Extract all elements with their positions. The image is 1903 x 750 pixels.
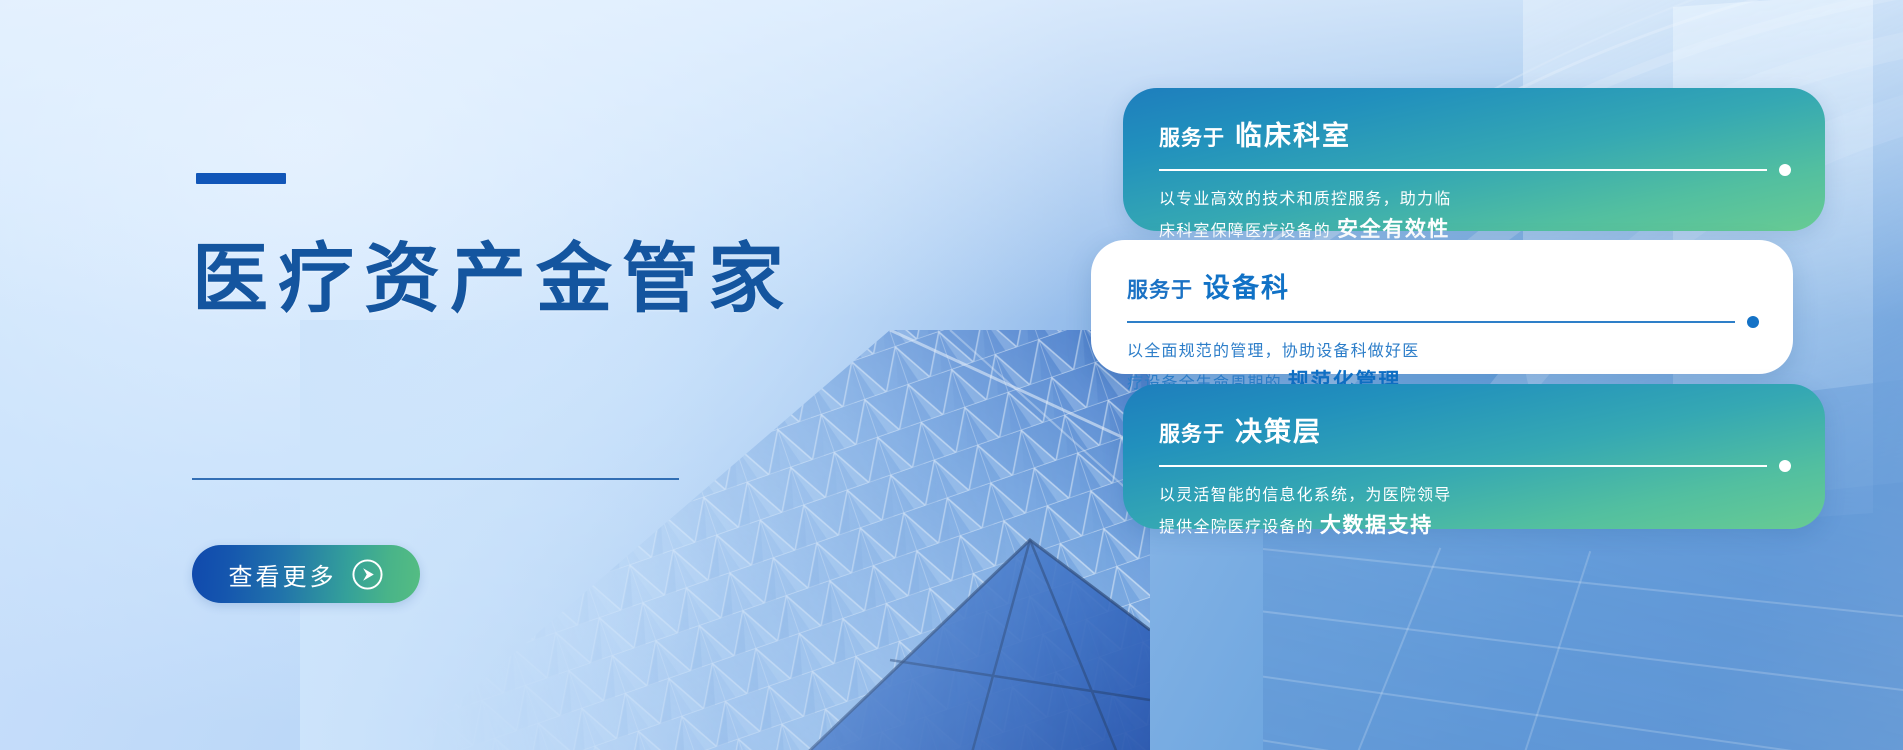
service-card-line2: 提供全院医疗设备的 <box>1159 519 1314 536</box>
service-card-equipment[interactable]: 服务于 设备科 以全面规范的管理，协助设备科做好医 疗设备全生命周期的规范化管理 <box>1091 240 1793 374</box>
circle-arrow-right-icon <box>351 558 384 591</box>
service-card-heading: 服务于 决策层 <box>1159 410 1791 449</box>
service-card-prefix: 服务于 <box>1127 274 1193 304</box>
rule-line <box>1127 321 1735 323</box>
service-card-prefix: 服务于 <box>1159 122 1225 152</box>
service-card-line1: 以全面规范的管理，协助设备科做好医 <box>1127 343 1419 360</box>
service-card-prefix: 服务于 <box>1159 418 1225 448</box>
service-cards: 服务于 临床科室 以专业高效的技术和质控服务，助力临 床科室保障医疗设备的安全有… <box>1123 0 1903 750</box>
service-card-decision[interactable]: 服务于 决策层 以灵活智能的信息化系统，为医院领导 提供全院医疗设备的大数据支持 <box>1123 384 1825 529</box>
service-card-highlight: 安全有效性 <box>1337 218 1450 241</box>
service-card-heading: 服务于 设备科 <box>1127 266 1759 305</box>
rule-line <box>1159 169 1767 171</box>
service-card-line2: 床科室保障医疗设备的 <box>1159 223 1331 240</box>
service-card-subject: 临床科室 <box>1235 114 1351 153</box>
rule-end-dot <box>1779 164 1791 176</box>
service-card-subject: 决策层 <box>1235 410 1322 449</box>
view-more-label: 查看更多 <box>229 557 337 592</box>
service-card-line1: 以灵活智能的信息化系统，为医院领导 <box>1159 487 1451 504</box>
service-card-body: 以灵活智能的信息化系统，为医院领导 提供全院医疗设备的大数据支持 <box>1159 483 1791 543</box>
rule-end-dot <box>1779 460 1791 472</box>
service-card-subject: 设备科 <box>1203 266 1290 305</box>
hero-banner: 医疗资产金管家 查看更多 服务于 临床科室 以专业高效的技术和质控服务，助力临 <box>0 0 1903 750</box>
hero-divider <box>192 478 679 480</box>
service-card-body: 以专业高效的技术和质控服务，助力临 床科室保障医疗设备的安全有效性 <box>1159 187 1791 247</box>
hero-left-content: 医疗资产金管家 查看更多 <box>196 0 816 750</box>
service-card-clinical[interactable]: 服务于 临床科室 以专业高效的技术和质控服务，助力临 床科室保障医疗设备的安全有… <box>1123 88 1825 231</box>
service-card-line1: 以专业高效的技术和质控服务，助力临 <box>1159 191 1451 208</box>
service-card-rule <box>1159 164 1791 176</box>
service-card-rule <box>1127 316 1759 328</box>
rule-end-dot <box>1747 316 1759 328</box>
accent-bar <box>196 173 286 184</box>
service-card-heading: 服务于 临床科室 <box>1159 114 1791 153</box>
page-title: 医疗资产金管家 <box>192 236 794 323</box>
service-card-rule <box>1159 460 1791 472</box>
service-card-highlight: 大数据支持 <box>1320 514 1433 537</box>
rule-line <box>1159 465 1767 467</box>
view-more-button[interactable]: 查看更多 <box>192 545 420 603</box>
